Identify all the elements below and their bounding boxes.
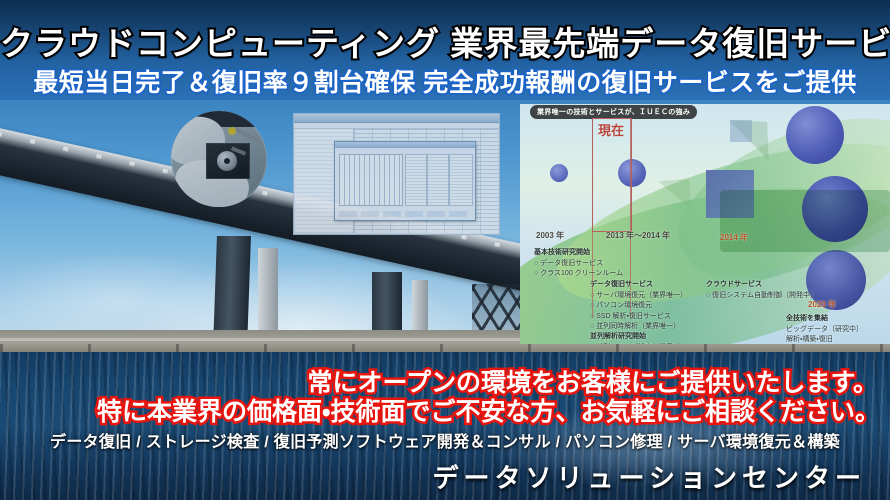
block-heading: 並列解析研究開始 <box>590 332 731 343</box>
decorative-sphere <box>786 106 844 164</box>
decorative-square <box>730 120 752 142</box>
roadmap-block-parallel-analysis: 並列解析研究開始 ○ 並列ドライブ検査（業界唯一） ○ 物理解析付 復旧ソフトウ… <box>590 332 731 344</box>
block-heading: データ復旧サービス <box>590 280 687 291</box>
block-item: ○ SSD 解析・復旧サービス <box>590 312 687 323</box>
block-item: ○ データ復旧サービス <box>534 259 623 270</box>
block-item: ○ クラス100 クリーンルーム <box>534 269 623 280</box>
roadmap-block-data-recovery: データ復旧サービス ○ サーバ環境復元（業界唯一） ○ パソコン環境復元 ○ S… <box>590 280 687 333</box>
roadmap-block-cloud-service: クラウドサービス ○ 復旧システム自動制御（開発中） <box>706 280 817 301</box>
roadmap-year-2014: 2014 年 <box>720 232 748 243</box>
roadmap-caption: 業界唯一の技術とサービスが、ＩＵＥＣの強み <box>530 105 697 119</box>
company-name: データソリューションセンター <box>0 458 890 495</box>
company-roadmap-graphic: 業界唯一の技術とサービスが、ＩＵＥＣの強み 現在 2003 年 2013 年～2… <box>520 104 890 344</box>
block-item: ○ サーバ環境復元（業界唯一） <box>590 291 687 302</box>
promotional-banner: 業界唯一の技術とサービスが、ＩＵＥＣの強み 現在 2003 年 2013 年～2… <box>0 0 890 500</box>
decorative-sphere <box>550 164 568 182</box>
block-item: ○ 並列同時解析（業界唯一） <box>590 322 687 333</box>
block-heading: クラウドサービス <box>706 280 817 291</box>
block-item: ○ パソコン環境復元 <box>590 301 687 312</box>
roadmap-block-all-technology: 全技術を集結 ビッグデータ〔研究中〕 解析・構築・復旧 <box>786 314 863 344</box>
block-item: ビッグデータ〔研究中〕 <box>786 325 863 336</box>
block-item: ○ 並列ドライブ検査（業界唯一） <box>590 343 731 345</box>
page-title: クラウドコンピューティング 業界最先端データ復旧サービス <box>0 17 890 65</box>
data-recovery-software-screenshot <box>293 113 500 235</box>
block-item: 解析・構築・復旧 <box>786 335 863 344</box>
services-list: データ復旧 / ストレージ検査 / 復旧予測ソフトウェア開発＆コンサル / パソ… <box>0 428 890 452</box>
promo-line-2: 特に本業界の価格面・技術面でご不安な方、お気軽にご相談ください。 <box>0 392 890 428</box>
roadmap-year-2013-2014: 2013 年～2014 年 <box>606 230 670 241</box>
photo-tint <box>294 114 499 234</box>
roadmap-year-2003: 2003 年 <box>536 230 564 241</box>
hard-drive-cleanroom-photo <box>171 111 267 207</box>
block-heading: 全技術を集結 <box>786 314 863 325</box>
now-label: 現在 <box>594 120 628 139</box>
page-subtitle: 最短当日完了＆復旧率９割台確保 完全成功報酬の復旧サービスをご提供 <box>0 63 890 99</box>
photo-tint <box>171 111 267 207</box>
block-heading: 基本技術研究開始 <box>534 248 623 259</box>
block-item: ○ 復旧システム自動制御（開発中） <box>706 291 817 302</box>
roadmap-block-basic-research: 基本技術研究開始 ○ データ復旧サービス ○ クラス100 クリーンルーム <box>534 248 623 280</box>
